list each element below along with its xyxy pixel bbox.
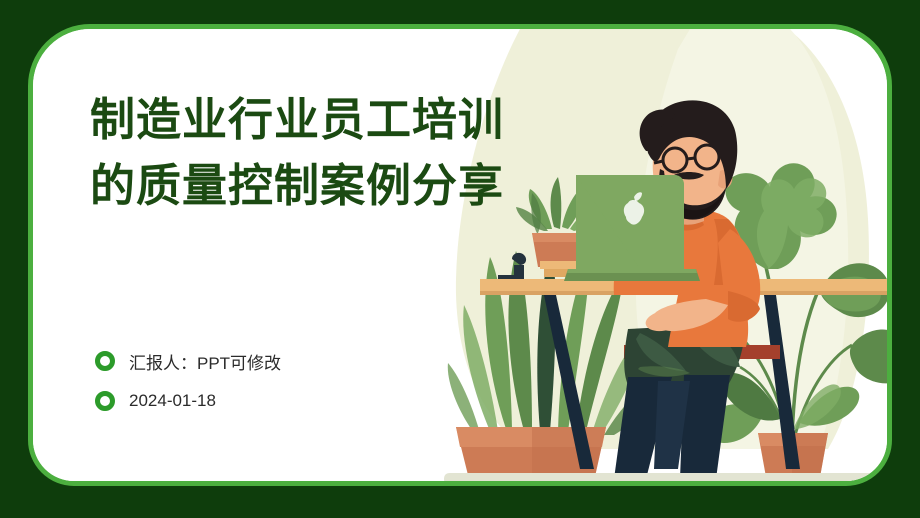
- meta-item-presenter: 汇报人：PPT可修改: [95, 341, 281, 381]
- slide-card: 制造业行业员工培训 的质量控制案例分享 汇报人：PPT可修改 2024-01-1…: [28, 24, 892, 486]
- title-block: 制造业行业员工培训 的质量控制案例分享: [90, 87, 560, 219]
- title-line-1: 制造业行业员工培训: [90, 87, 560, 153]
- slide-card-inner: 制造业行业员工培训 的质量控制案例分享 汇报人：PPT可修改 2024-01-1…: [33, 29, 887, 481]
- presenter-label: 汇报人：PPT可修改: [129, 349, 281, 374]
- ring-bullet-icon: [95, 351, 115, 371]
- meta-item-date: 2024-01-18: [95, 381, 281, 421]
- laptop: [564, 175, 700, 281]
- meta-block: 汇报人：PPT可修改 2024-01-18: [95, 341, 281, 421]
- date-label: 2024-01-18: [129, 391, 216, 411]
- ground-line: [444, 473, 882, 481]
- title-line-2: 的质量控制案例分享: [90, 153, 560, 219]
- slide-canvas: 制造业行业员工培训 的质量控制案例分享 汇报人：PPT可修改 2024-01-1…: [0, 0, 920, 518]
- ring-bullet-icon: [95, 391, 115, 411]
